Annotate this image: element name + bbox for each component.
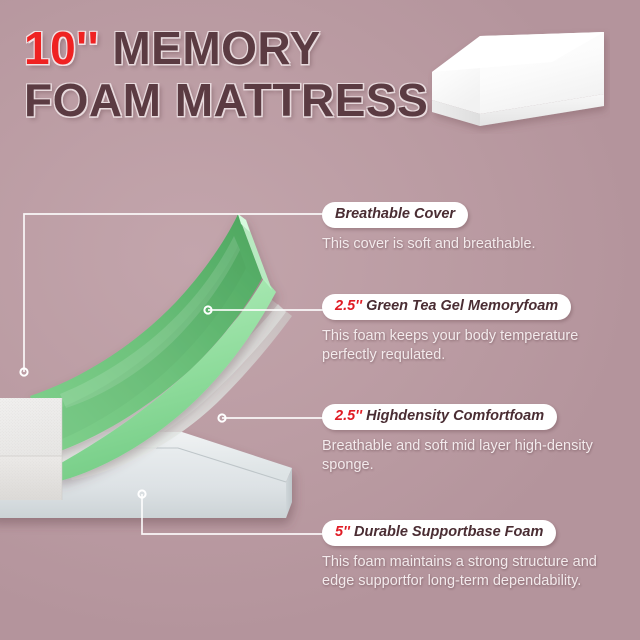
callout-breathable-cover: Breathable Cover This cover is soft and …	[322, 202, 640, 254]
callout-highdensity-comfortfoam: 2.5'' Highdensity Comfortfoam Breathable…	[322, 404, 640, 475]
callout-green-tea-gel-memoryfoam: 2.5'' Green Tea Gel Memoryfoam This foam…	[322, 294, 640, 365]
callout-durable-supportbase-foam: 5'' Durable Supportbase Foam This foam m…	[322, 520, 640, 591]
mattress-layer-diagram	[0, 180, 340, 580]
callout-badge-durable-supportbase-foam[interactable]: 5'' Durable Supportbase Foam	[322, 520, 556, 546]
callout-body-green-tea-gel-memoryfoam: This foam keeps your body temperature pe…	[322, 327, 622, 365]
callout-list: Breathable Cover This cover is soft and …	[322, 0, 640, 640]
callout-badge-highdensity-comfortfoam[interactable]: 2.5'' Highdensity Comfortfoam	[322, 404, 557, 430]
callout-title-durable-supportbase-foam: Durable Supportbase Foam	[354, 524, 543, 540]
callout-title-breathable-cover: Breathable Cover	[335, 206, 455, 222]
callout-badge-green-tea-gel-memoryfoam[interactable]: 2.5'' Green Tea Gel Memoryfoam	[322, 294, 571, 320]
callout-badge-breathable-cover[interactable]: Breathable Cover	[322, 202, 468, 228]
callout-thickness-green-tea-gel-memoryfoam: 2.5''	[335, 298, 362, 314]
callout-title-highdensity-comfortfoam: Highdensity Comfortfoam	[366, 408, 544, 424]
callout-body-breathable-cover: This cover is soft and breathable.	[322, 235, 622, 254]
callout-body-durable-supportbase-foam: This foam maintains a strong structure a…	[322, 553, 622, 591]
callout-title-green-tea-gel-memoryfoam: Green Tea Gel Memoryfoam	[366, 298, 558, 314]
poster-canvas: 10'' MEMORY FOAM MATTRESS	[0, 0, 640, 640]
title-size-accent: 10''	[24, 22, 99, 74]
title-line-1-rest: MEMORY	[99, 22, 321, 74]
callout-thickness-durable-supportbase-foam: 5''	[335, 524, 350, 540]
callout-body-highdensity-comfortfoam: Breathable and soft mid layer high-densi…	[322, 437, 622, 475]
callout-thickness-highdensity-comfortfoam: 2.5''	[335, 408, 362, 424]
layer-breathable-cover	[0, 398, 62, 500]
